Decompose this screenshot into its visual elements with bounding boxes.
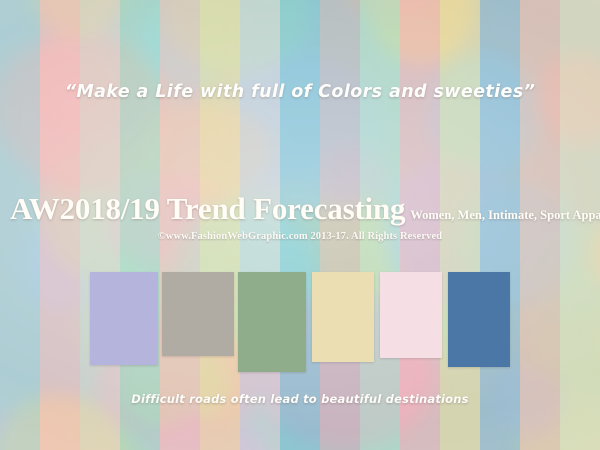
title-row: AW2018/19 Trend Forecasting Women, Men, … [10, 193, 592, 224]
copyright-notice: ©www.FashionWebGraphic.com 2013-17. All … [0, 231, 600, 242]
color-swatch-denim-blue[interactable] [448, 272, 510, 367]
page-title: AW2018/19 Trend Forecasting [10, 193, 405, 224]
color-swatch-sage-green[interactable] [238, 272, 306, 372]
quote-text: Difficult roads often lead to beautiful … [0, 392, 600, 406]
color-palette-strip [90, 272, 512, 372]
tagline-text: “Make a Life with full of Colors and swe… [0, 82, 600, 102]
color-swatch-warm-grey[interactable] [162, 272, 234, 356]
color-swatch-blush-pink[interactable] [380, 272, 442, 358]
poster-content: “Make a Life with full of Colors and swe… [0, 0, 600, 450]
page-subtitle: Women, Men, Intimate, Sport Apparel [410, 209, 600, 222]
color-swatch-cream[interactable] [312, 272, 374, 362]
trend-forecast-poster: “Make a Life with full of Colors and swe… [0, 0, 600, 450]
color-swatch-lavender[interactable] [90, 272, 158, 365]
